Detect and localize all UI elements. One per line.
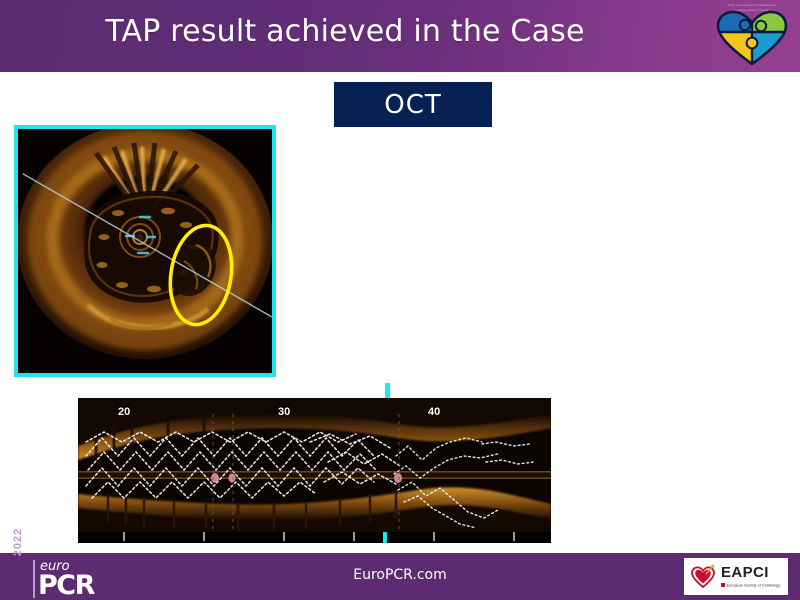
modality-label-text: OCT [384, 90, 442, 120]
eapci-text-block: EAPCI European Society of Cardiology [721, 565, 780, 587]
eapci-logo: EAPCI European Society of Cardiology [684, 558, 788, 595]
oct-cross-sectional-image[interactable] [14, 125, 276, 377]
oct-longitudinal-render [78, 398, 551, 543]
slide: TAP result achieved in the Case UOC Inte… [0, 0, 800, 600]
modality-label-box: OCT [334, 82, 492, 127]
oct-cross-section-render [18, 129, 272, 373]
ruler-label-30: 30 [278, 406, 290, 418]
page-title: TAP result achieved in the Case [0, 14, 690, 49]
congress-logo-caption-line2: e Diagnostica Invasiva [710, 8, 794, 13]
ruler-label-40: 40 [428, 406, 440, 418]
eapci-subtitle: European Society of Cardiology [721, 583, 780, 587]
congress-logo-caption-line1: UOC Interventistica Cardiologica [710, 3, 794, 8]
slide-header: TAP result achieved in the Case UOC Inte… [0, 0, 800, 72]
ruler-label-20: 20 [118, 406, 130, 418]
oct-longitudinal-pullback-image[interactable]: 20 30 40 [78, 398, 551, 543]
brand-year: 2022 [12, 523, 24, 561]
eapci-heart-icon [690, 564, 716, 590]
congress-puzzle-heart-logo: UOC Interventistica Cardiologica e Diagn… [710, 2, 794, 70]
eapci-abbreviation: EAPCI [721, 565, 780, 580]
footer-website-link[interactable]: EuroPCR.com [0, 567, 800, 583]
slide-footer: 2022 euro PCR EuroPCR.com EAPCI European… [0, 553, 800, 600]
